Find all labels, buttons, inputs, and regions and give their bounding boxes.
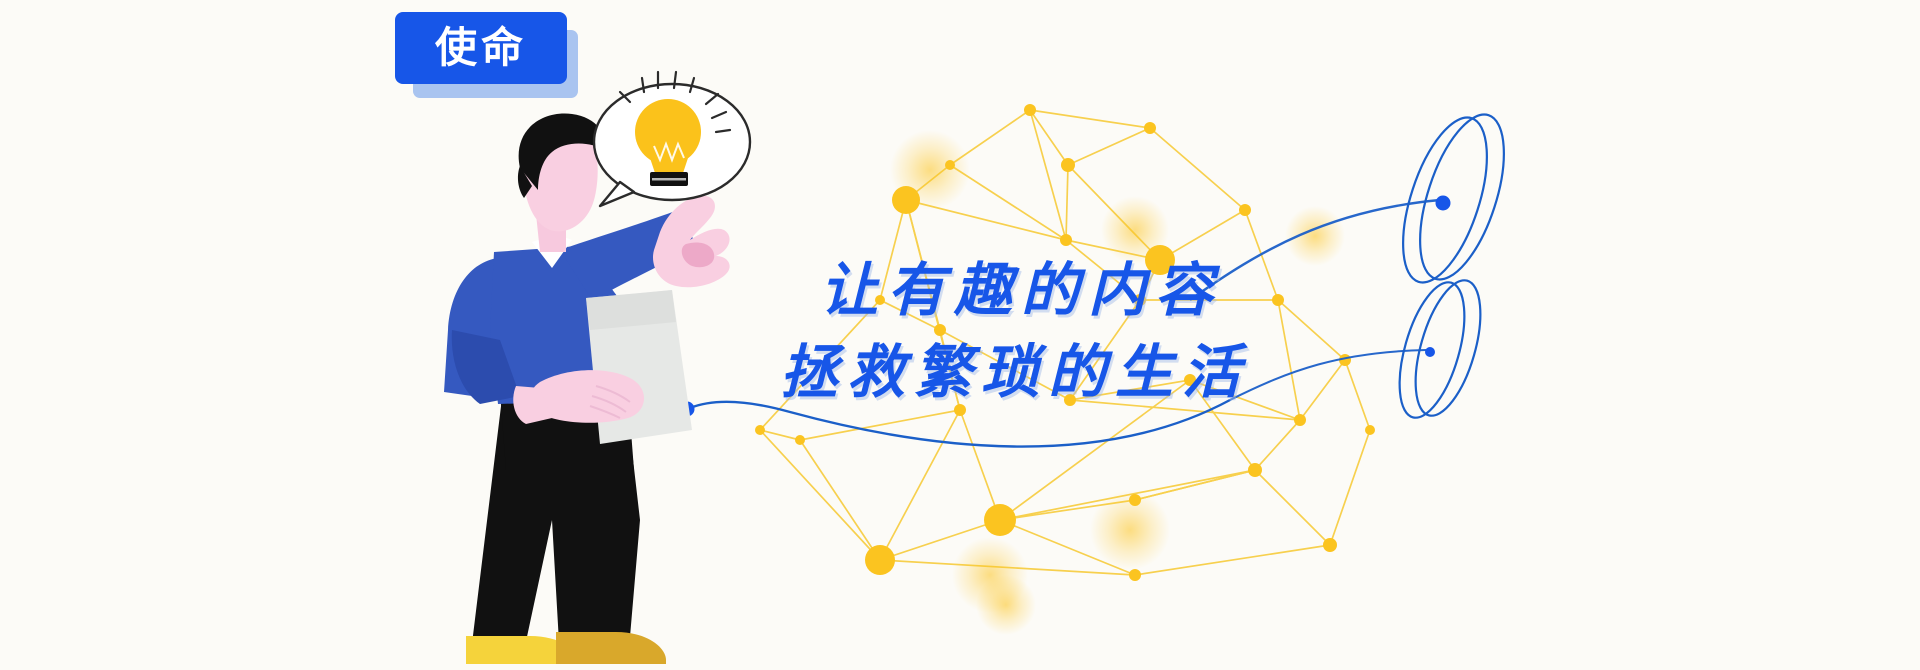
lightbulb-idea-bubble: [0, 0, 1920, 670]
hero-banner: 使命 让有趣的内容 拯救繁琐的生活: [0, 0, 1920, 670]
lightbulb-glass: [635, 99, 701, 165]
